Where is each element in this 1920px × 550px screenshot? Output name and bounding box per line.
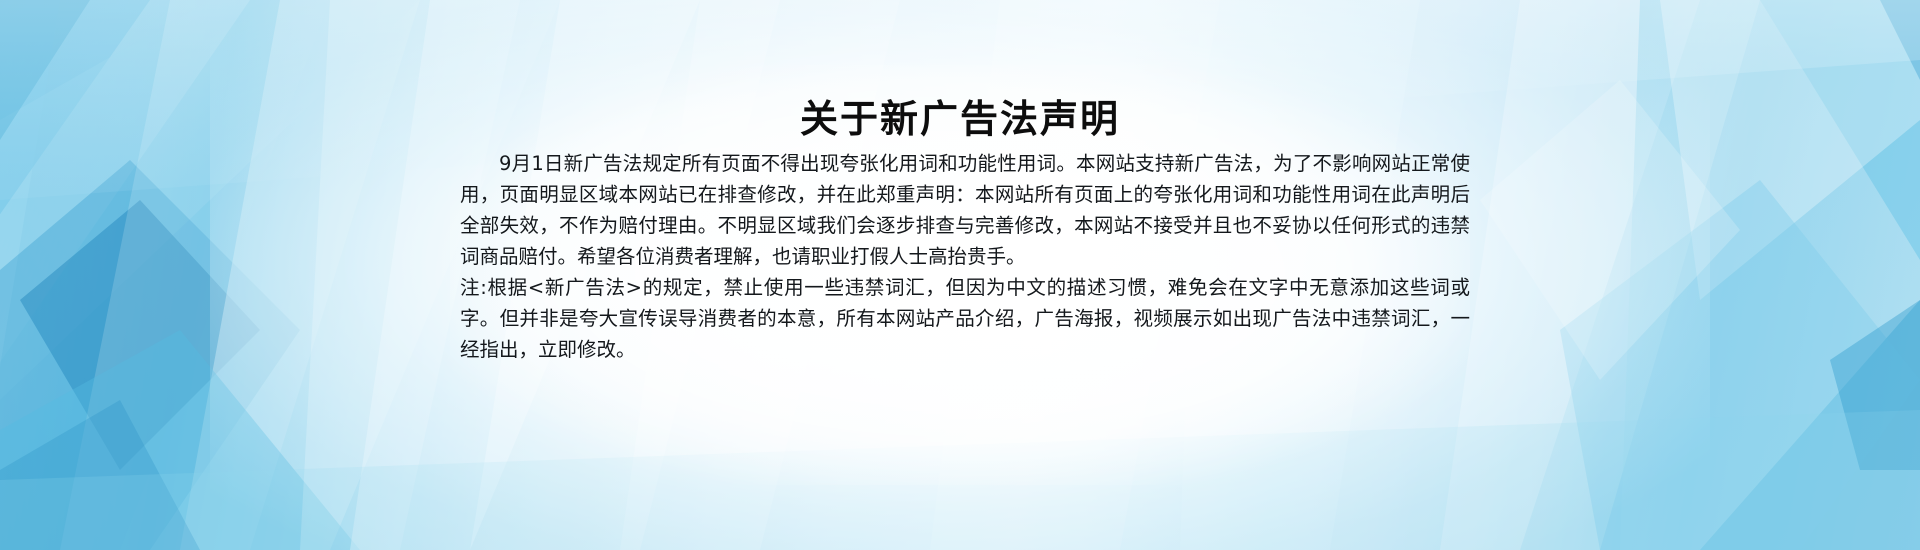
statement-paragraph-note: 注:根据<新广告法>的规定，禁止使用一些违禁词汇，但因为中文的描述习惯，难免会在…: [460, 272, 1470, 365]
statement-body: 9月1日新广告法规定所有页面不得出现夸张化用词和功能性用词。本网站支持新广告法，…: [460, 148, 1470, 365]
statement-paragraph-main: 9月1日新广告法规定所有页面不得出现夸张化用词和功能性用词。本网站支持新广告法，…: [460, 148, 1470, 272]
statement-content: 关于新广告法声明 9月1日新广告法规定所有页面不得出现夸张化用词和功能性用词。本…: [0, 0, 1920, 550]
advertising-law-statement-banner: 关于新广告法声明 9月1日新广告法规定所有页面不得出现夸张化用词和功能性用词。本…: [0, 0, 1920, 550]
page-title: 关于新广告法声明: [0, 88, 1920, 143]
